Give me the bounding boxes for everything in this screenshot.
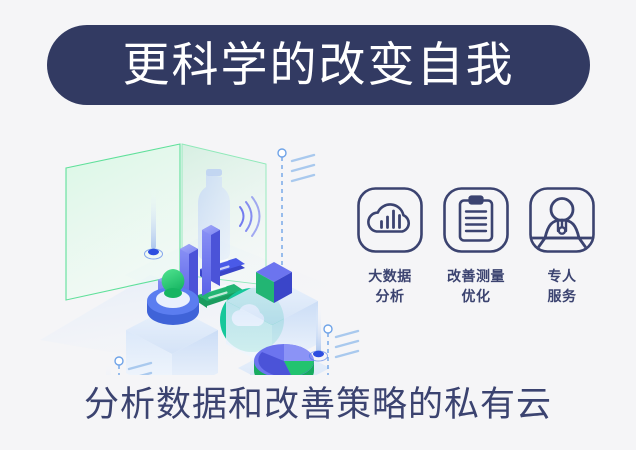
footer-tagline: 分析数据和改善策略的私有云 (0, 383, 636, 427)
location-pin-lower-left (100, 363, 118, 375)
feature-list: 大数据 分析 改善测量 优化 (352, 186, 600, 307)
feature-label-dedicated-service: 专人 服务 (548, 267, 577, 307)
header-banner: 更科学的改变自我 (47, 25, 590, 105)
feature-label-improvement-measurement: 改善测量 优化 (447, 267, 505, 307)
feature-improvement-measurement[interactable]: 改善测量 优化 (438, 186, 514, 307)
feature-label-big-data-analysis: 大数据 分析 (368, 267, 412, 307)
feature-label-line-2: 优化 (447, 287, 505, 307)
feature-dedicated-service[interactable]: 专人 服务 (524, 186, 600, 307)
page-title: 更科学的改变自我 (123, 42, 515, 89)
service-person-icon (528, 186, 596, 254)
feature-label-line-2: 分析 (368, 287, 412, 307)
feature-label-line-2: 服务 (548, 287, 577, 307)
feature-label-line-1: 改善测量 (447, 267, 505, 287)
isometric-scene-svg (30, 125, 360, 375)
page-root: 更科学的改变自我 (0, 0, 636, 450)
feature-label-line-1: 专人 (548, 267, 577, 287)
hero-illustration (30, 125, 360, 375)
feature-big-data-analysis[interactable]: 大数据 分析 (352, 186, 428, 307)
feature-label-line-1: 大数据 (368, 267, 412, 287)
cloud-bar-chart-icon (356, 186, 424, 254)
clipboard-icon (442, 186, 510, 254)
